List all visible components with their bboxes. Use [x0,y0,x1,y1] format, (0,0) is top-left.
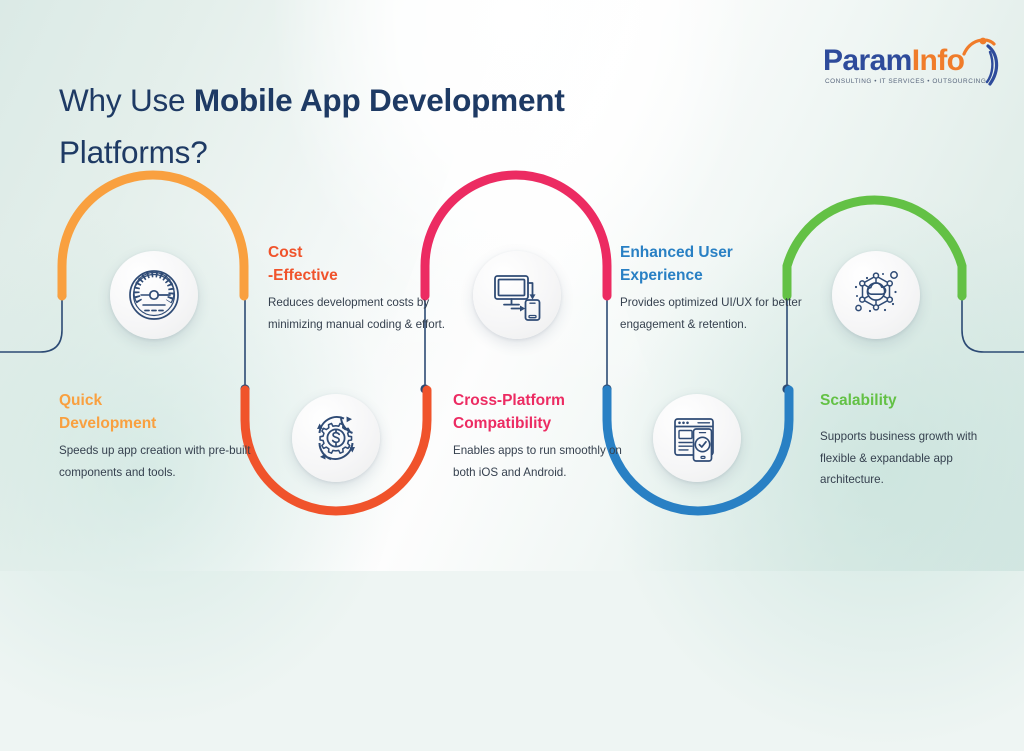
step-block-cross-platform: Cross-PlatformCompatibility Enables apps… [453,389,643,483]
heading-line-2: Development [59,415,156,432]
chain-tail-right [962,295,1024,352]
step-block-enhanced-ux: Enhanced UserExperience Provides optimiz… [620,241,820,335]
step-body-quick-development: Speeds up app creation with pre-built co… [59,440,259,483]
chain-tail-left [0,295,62,352]
step-block-cost-effective: Cost-Effective Reduces development costs… [268,241,468,335]
step-body-cross-platform: Enables apps to run smoothly on both iOS… [453,440,643,483]
step-body-enhanced-ux: Provides optimized UI/UX for better enga… [620,292,820,335]
heading-line-1: Cost [268,244,302,261]
icon-bubble-scalability[interactable] [832,251,920,339]
icon-bubble-enhanced-ux[interactable] [653,394,741,482]
step-heading-scalability: Scalability [820,389,998,412]
heading-line-1: Quick [59,392,102,409]
step-body-scalability: Supports business growth with flexible &… [820,426,998,491]
ui-wireframe-check-icon [669,410,725,466]
heading-line-2: Experience [620,267,703,284]
heading-line-2: -Effective [268,267,338,284]
icon-bubble-cost-effective[interactable] [292,394,380,482]
cloud-network-icon [847,266,905,324]
gear-dollar-icon [307,409,365,467]
step-heading-quick-development: QuickDevelopment [59,389,259,435]
desktop-to-mobile-icon [489,267,545,323]
step-body-cost-effective: Reduces development costs by minimizing … [268,292,468,335]
step-heading-cross-platform: Cross-PlatformCompatibility [453,389,643,435]
heading-line-1: Enhanced User [620,244,733,261]
step-heading-enhanced-ux: Enhanced UserExperience [620,241,820,287]
speedometer-icon [126,267,182,323]
step-heading-cost-effective: Cost-Effective [268,241,468,287]
heading-line-1: Cross-Platform [453,392,565,409]
icon-bubble-quick-development[interactable] [110,251,198,339]
step-block-quick-development: QuickDevelopment Speeds up app creation … [59,389,259,483]
step-block-scalability: Scalability Supports business growth wit… [820,389,998,491]
heading-line-2: Compatibility [453,415,551,432]
icon-bubble-cross-platform[interactable] [473,251,561,339]
